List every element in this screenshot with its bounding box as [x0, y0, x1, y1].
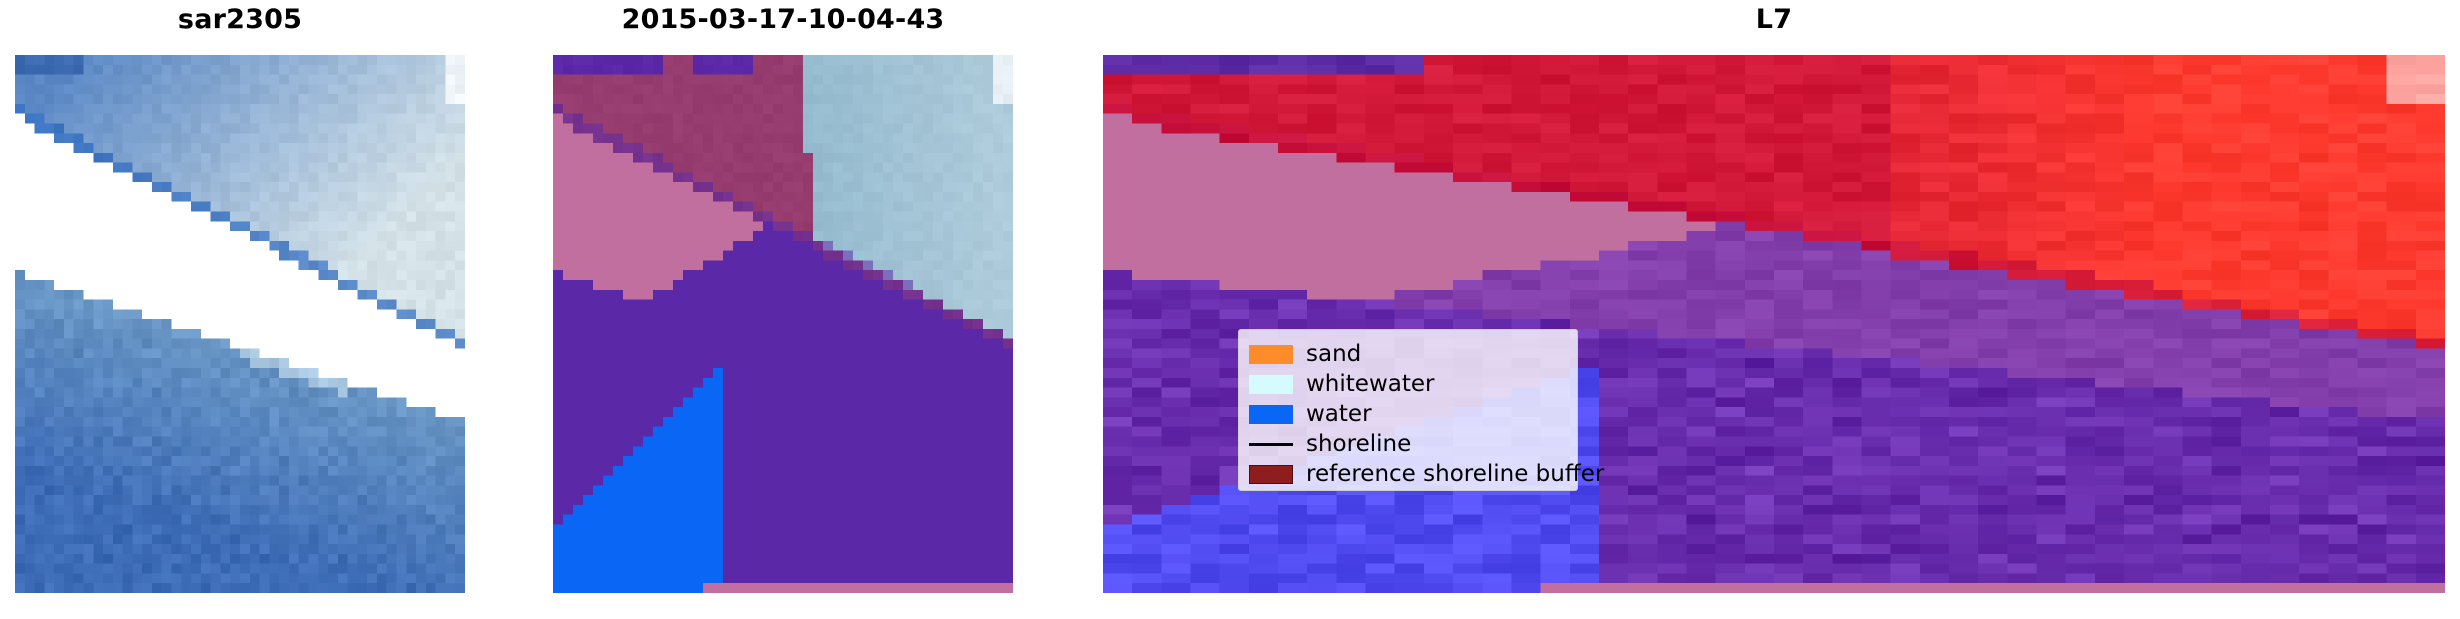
panel-sar2305: sar2305	[15, 0, 465, 619]
water-swatch-icon	[1249, 405, 1293, 424]
legend-item-water: water	[1249, 399, 1565, 429]
legend-label-sand: sand	[1306, 343, 1361, 366]
sand-swatch-icon	[1249, 345, 1293, 364]
legend-label-water: water	[1306, 403, 1372, 426]
panel-l7: L7	[1103, 0, 2445, 619]
raster-classified	[553, 55, 1013, 593]
legend-item-shoreline: shoreline	[1249, 429, 1565, 459]
axes-l7	[1103, 55, 2445, 593]
legend-label-shoreline: shoreline	[1306, 433, 1411, 456]
legend-item-reference-shoreline-buffer: reference shoreline buffer	[1249, 459, 1565, 489]
axes-classified	[553, 55, 1013, 593]
figure-root: sar2305 2015-03-17-10-04-43 L7 sand	[0, 0, 2460, 619]
panel-title-l7: L7	[1103, 4, 2445, 35]
axes-sar2305	[15, 55, 465, 593]
panel-title-sar2305: sar2305	[15, 4, 465, 35]
legend-label-reference-shoreline-buffer: reference shoreline buffer	[1306, 463, 1604, 486]
reference-shoreline-buffer-swatch-icon	[1249, 465, 1293, 484]
legend-label-whitewater: whitewater	[1306, 373, 1434, 396]
legend-item-whitewater: whitewater	[1249, 369, 1565, 399]
raster-sar2305	[15, 55, 465, 593]
shoreline-line-icon	[1249, 443, 1293, 446]
whitewater-swatch-icon	[1249, 375, 1293, 394]
legend-item-sand: sand	[1249, 339, 1565, 369]
panel-title-classified: 2015-03-17-10-04-43	[553, 4, 1013, 35]
panel-classified: 2015-03-17-10-04-43	[553, 0, 1013, 619]
classification-legend: sand whitewater water shoreline referenc…	[1238, 329, 1578, 491]
raster-l7	[1103, 55, 2445, 593]
